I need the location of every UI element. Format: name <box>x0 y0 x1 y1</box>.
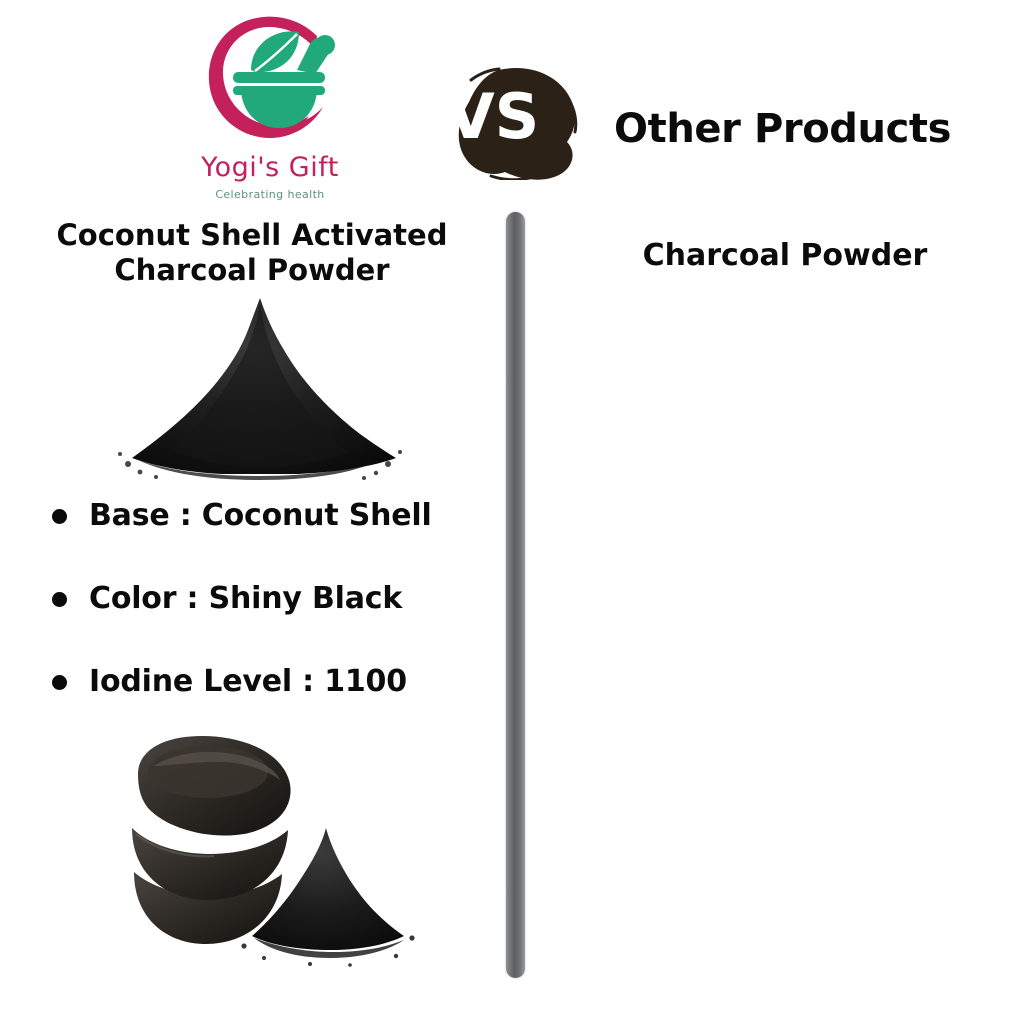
bullet-dot-icon <box>52 509 67 524</box>
left-product-title-line-2: Charcoal Powder <box>114 253 389 287</box>
left-powder-image <box>112 294 408 486</box>
list-item: Base : Coconut Shell <box>52 496 482 535</box>
vs-badge-label: VS <box>455 80 539 153</box>
coconut-shells-image <box>104 722 430 980</box>
vs-ink-blot-icon: VS <box>455 66 581 180</box>
brand-logo: Yogi's Gift Celebrating health <box>186 8 354 204</box>
brand-name: Yogi's Gift <box>186 154 354 181</box>
vertical-divider-bar <box>506 212 525 978</box>
bullet-dot-icon <box>52 675 67 690</box>
comparison-infographic: Yogi's Gift Celebrating health VS Other … <box>0 0 1024 1024</box>
left-attribute-base: Base : Coconut Shell <box>89 496 432 535</box>
mortar-pestle-leaf-hand-icon <box>199 14 341 152</box>
left-attribute-color: Color : Shiny Black <box>89 579 402 618</box>
right-product-title: Charcoal Powder <box>610 238 960 275</box>
vs-badge: VS <box>455 66 581 180</box>
left-product-title: Coconut Shell Activated Charcoal Powder <box>50 218 454 289</box>
list-item: Iodine Level : 1100 <box>52 662 482 701</box>
left-product-title-line-1: Coconut Shell Activated <box>57 218 448 252</box>
left-attribute-iodine-level: Iodine Level : 1100 <box>89 662 407 701</box>
bullet-dot-icon <box>52 592 67 607</box>
left-attribute-list: Base : Coconut Shell Color : Shiny Black… <box>52 496 482 745</box>
list-item: Color : Shiny Black <box>52 579 482 618</box>
brand-tagline: Celebrating health <box>186 188 354 201</box>
other-products-heading: Other Products <box>614 106 951 152</box>
